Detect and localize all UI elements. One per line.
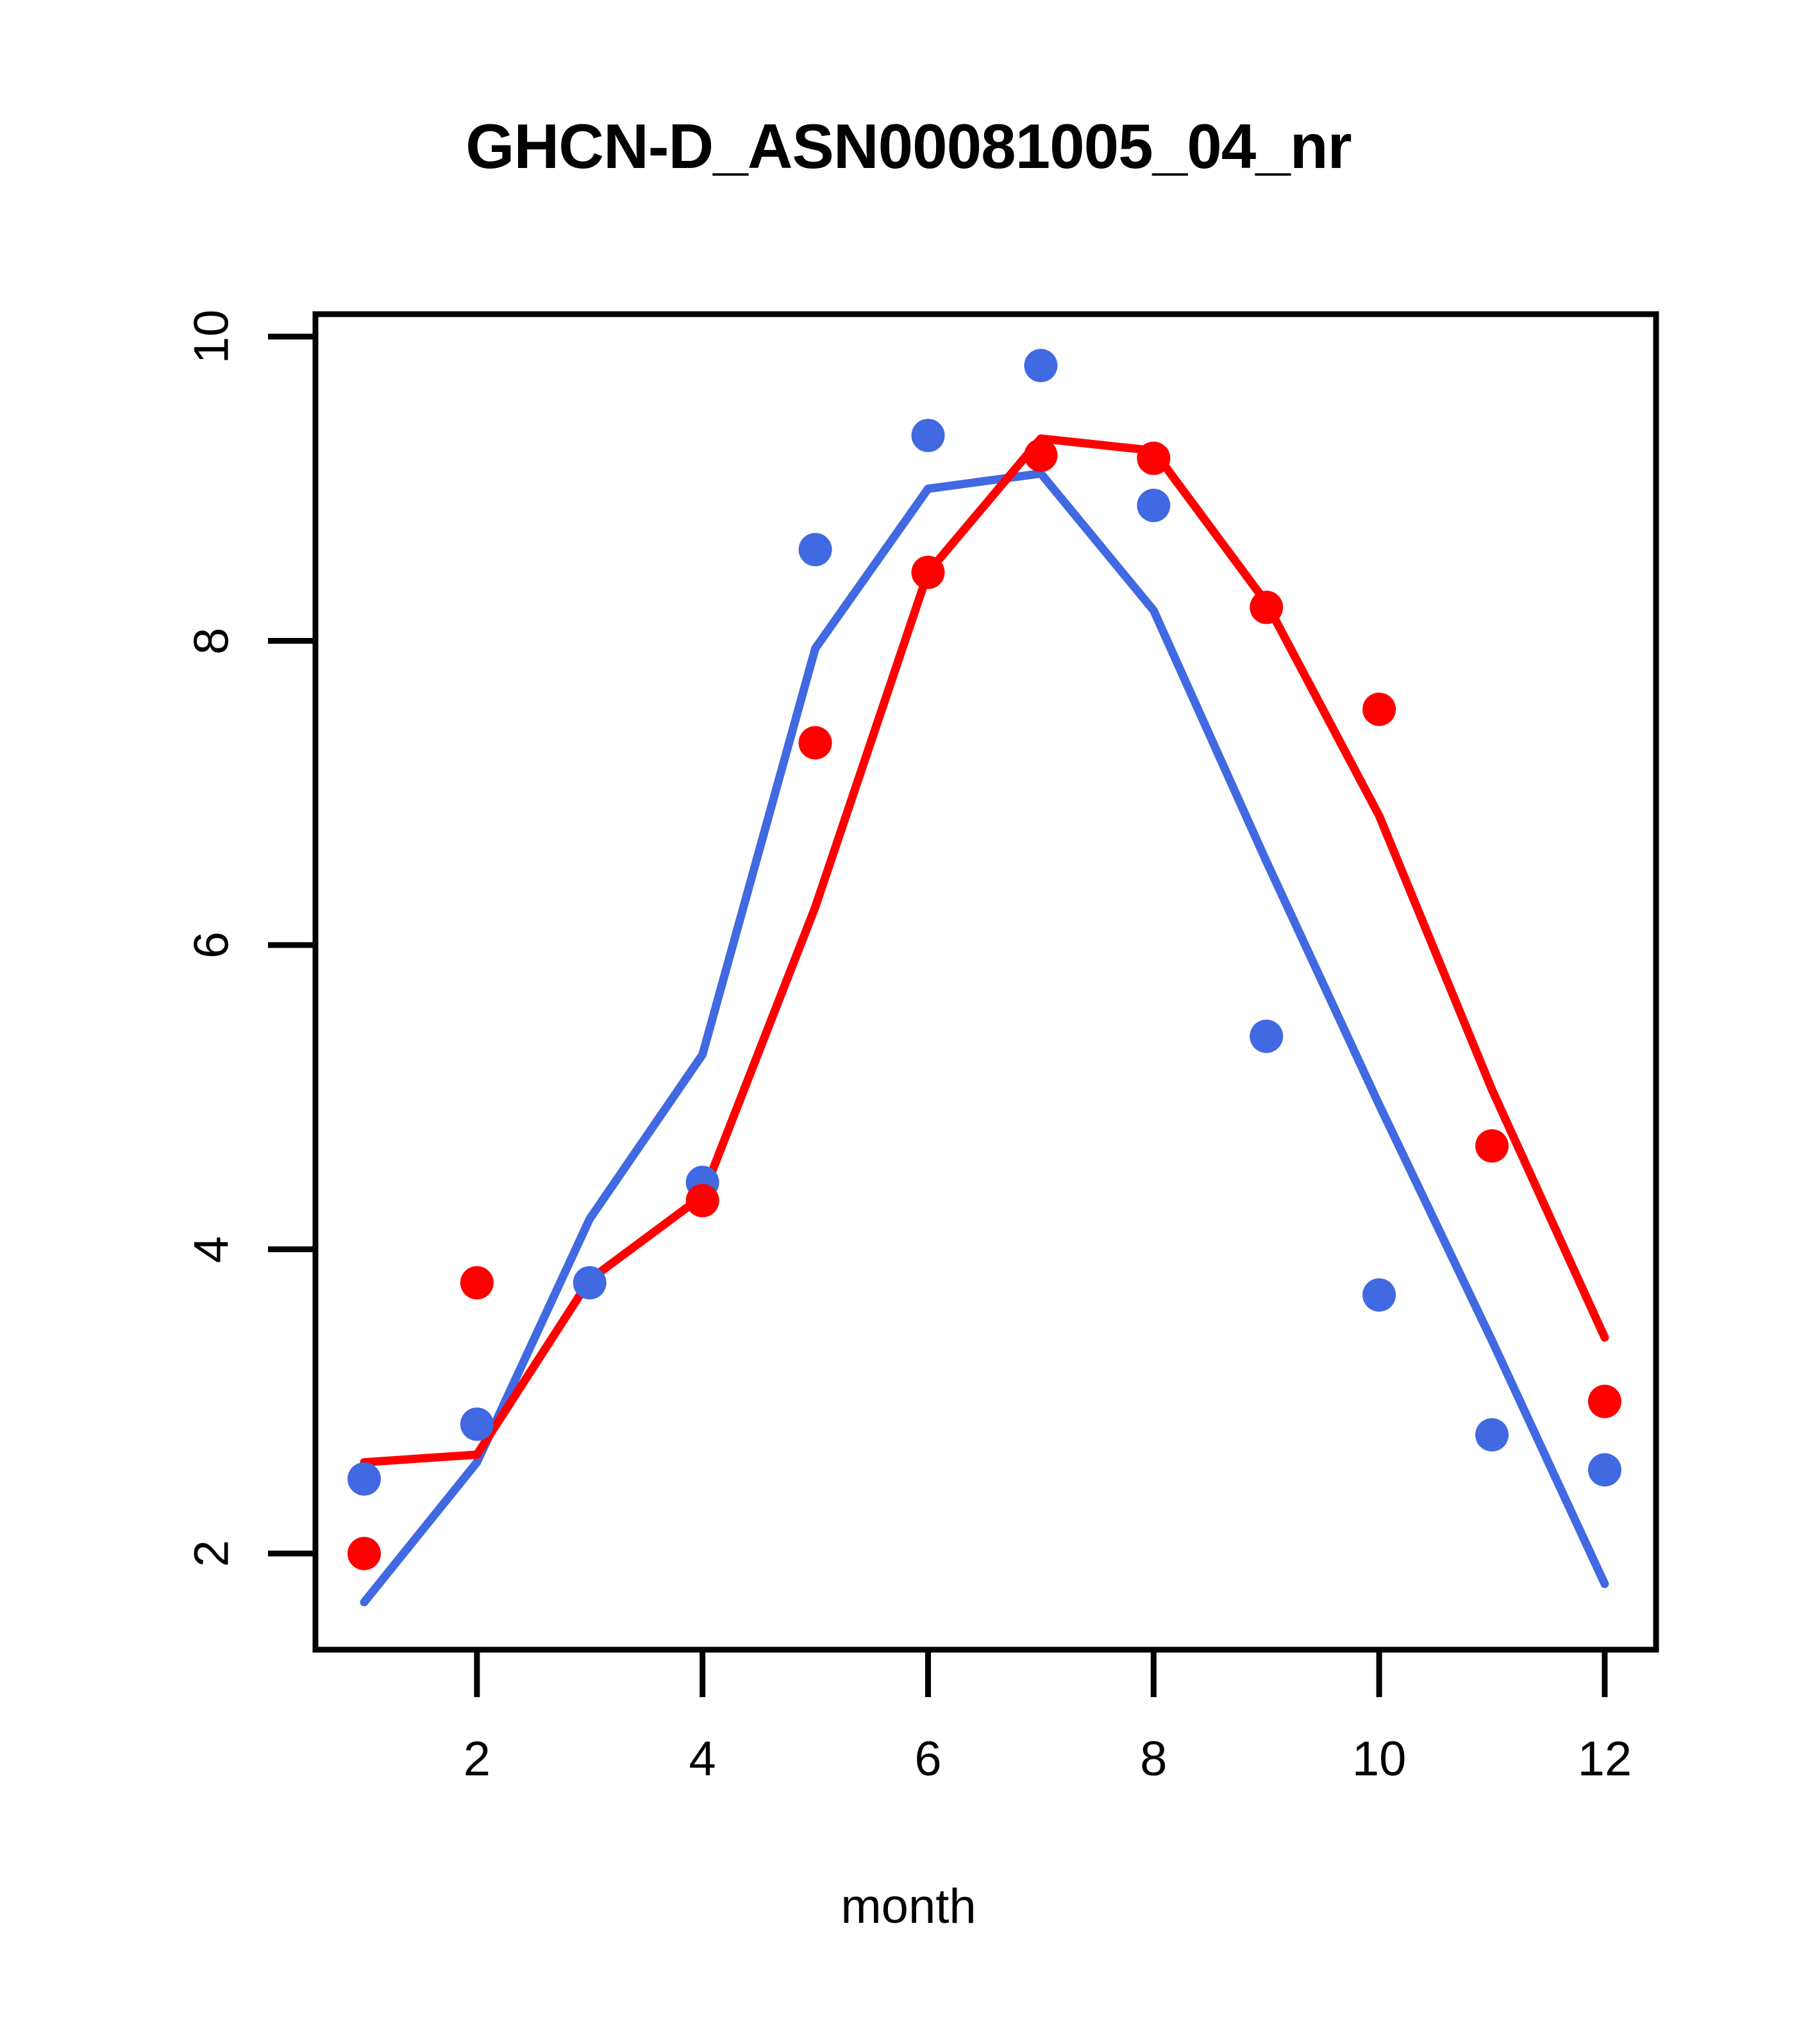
plot-border xyxy=(315,314,1656,1650)
plot-canvas xyxy=(0,0,1817,2044)
data-point-red-points xyxy=(799,726,832,760)
data-point-red-points xyxy=(460,1266,494,1300)
y-tick-label: 2 xyxy=(184,1540,240,1567)
y-tick-label: 4 xyxy=(184,1236,240,1262)
data-point-blue-points xyxy=(347,1462,381,1496)
chart-figure: GHCN-D_ASN00081005_04_nr 246810 24681012… xyxy=(0,0,1817,2044)
data-point-red-points xyxy=(347,1537,381,1570)
data-point-red-points xyxy=(1024,439,1057,472)
series-points xyxy=(347,349,1621,1570)
y-tick-label: 6 xyxy=(184,932,240,959)
data-point-red-points xyxy=(1137,442,1170,475)
data-point-blue-points xyxy=(460,1407,494,1441)
data-point-red-points xyxy=(686,1184,719,1218)
x-tick-label: 4 xyxy=(689,1731,716,1787)
x-tick-label: 12 xyxy=(1578,1731,1632,1787)
data-point-blue-points xyxy=(799,533,832,566)
data-point-blue-points xyxy=(1250,1019,1283,1053)
x-tick-label: 6 xyxy=(914,1731,941,1787)
data-point-blue-points xyxy=(912,419,945,452)
x-tick-label: 2 xyxy=(464,1731,490,1787)
x-tick-label: 10 xyxy=(1352,1731,1407,1787)
y-axis-ticks xyxy=(268,337,315,1554)
data-point-red-points xyxy=(1250,591,1283,624)
series-line-blue-line xyxy=(364,474,1605,1602)
data-point-blue-points xyxy=(573,1266,607,1300)
data-point-blue-points xyxy=(1475,1418,1509,1452)
x-axis-title: month xyxy=(0,1879,1817,1934)
series-lines xyxy=(364,439,1605,1602)
y-tick-label: 10 xyxy=(184,310,240,364)
x-tick-label: 8 xyxy=(1140,1731,1167,1787)
data-point-red-points xyxy=(1475,1129,1509,1162)
data-point-red-points xyxy=(1588,1385,1621,1418)
x-axis-ticks xyxy=(477,1650,1605,1697)
data-point-blue-points xyxy=(1588,1453,1621,1487)
data-point-red-points xyxy=(1362,692,1396,726)
data-point-blue-points xyxy=(1024,349,1057,382)
data-point-red-points xyxy=(912,556,945,589)
data-point-blue-points xyxy=(1362,1278,1396,1312)
y-tick-label: 8 xyxy=(184,627,240,654)
data-point-blue-points xyxy=(1137,489,1170,522)
